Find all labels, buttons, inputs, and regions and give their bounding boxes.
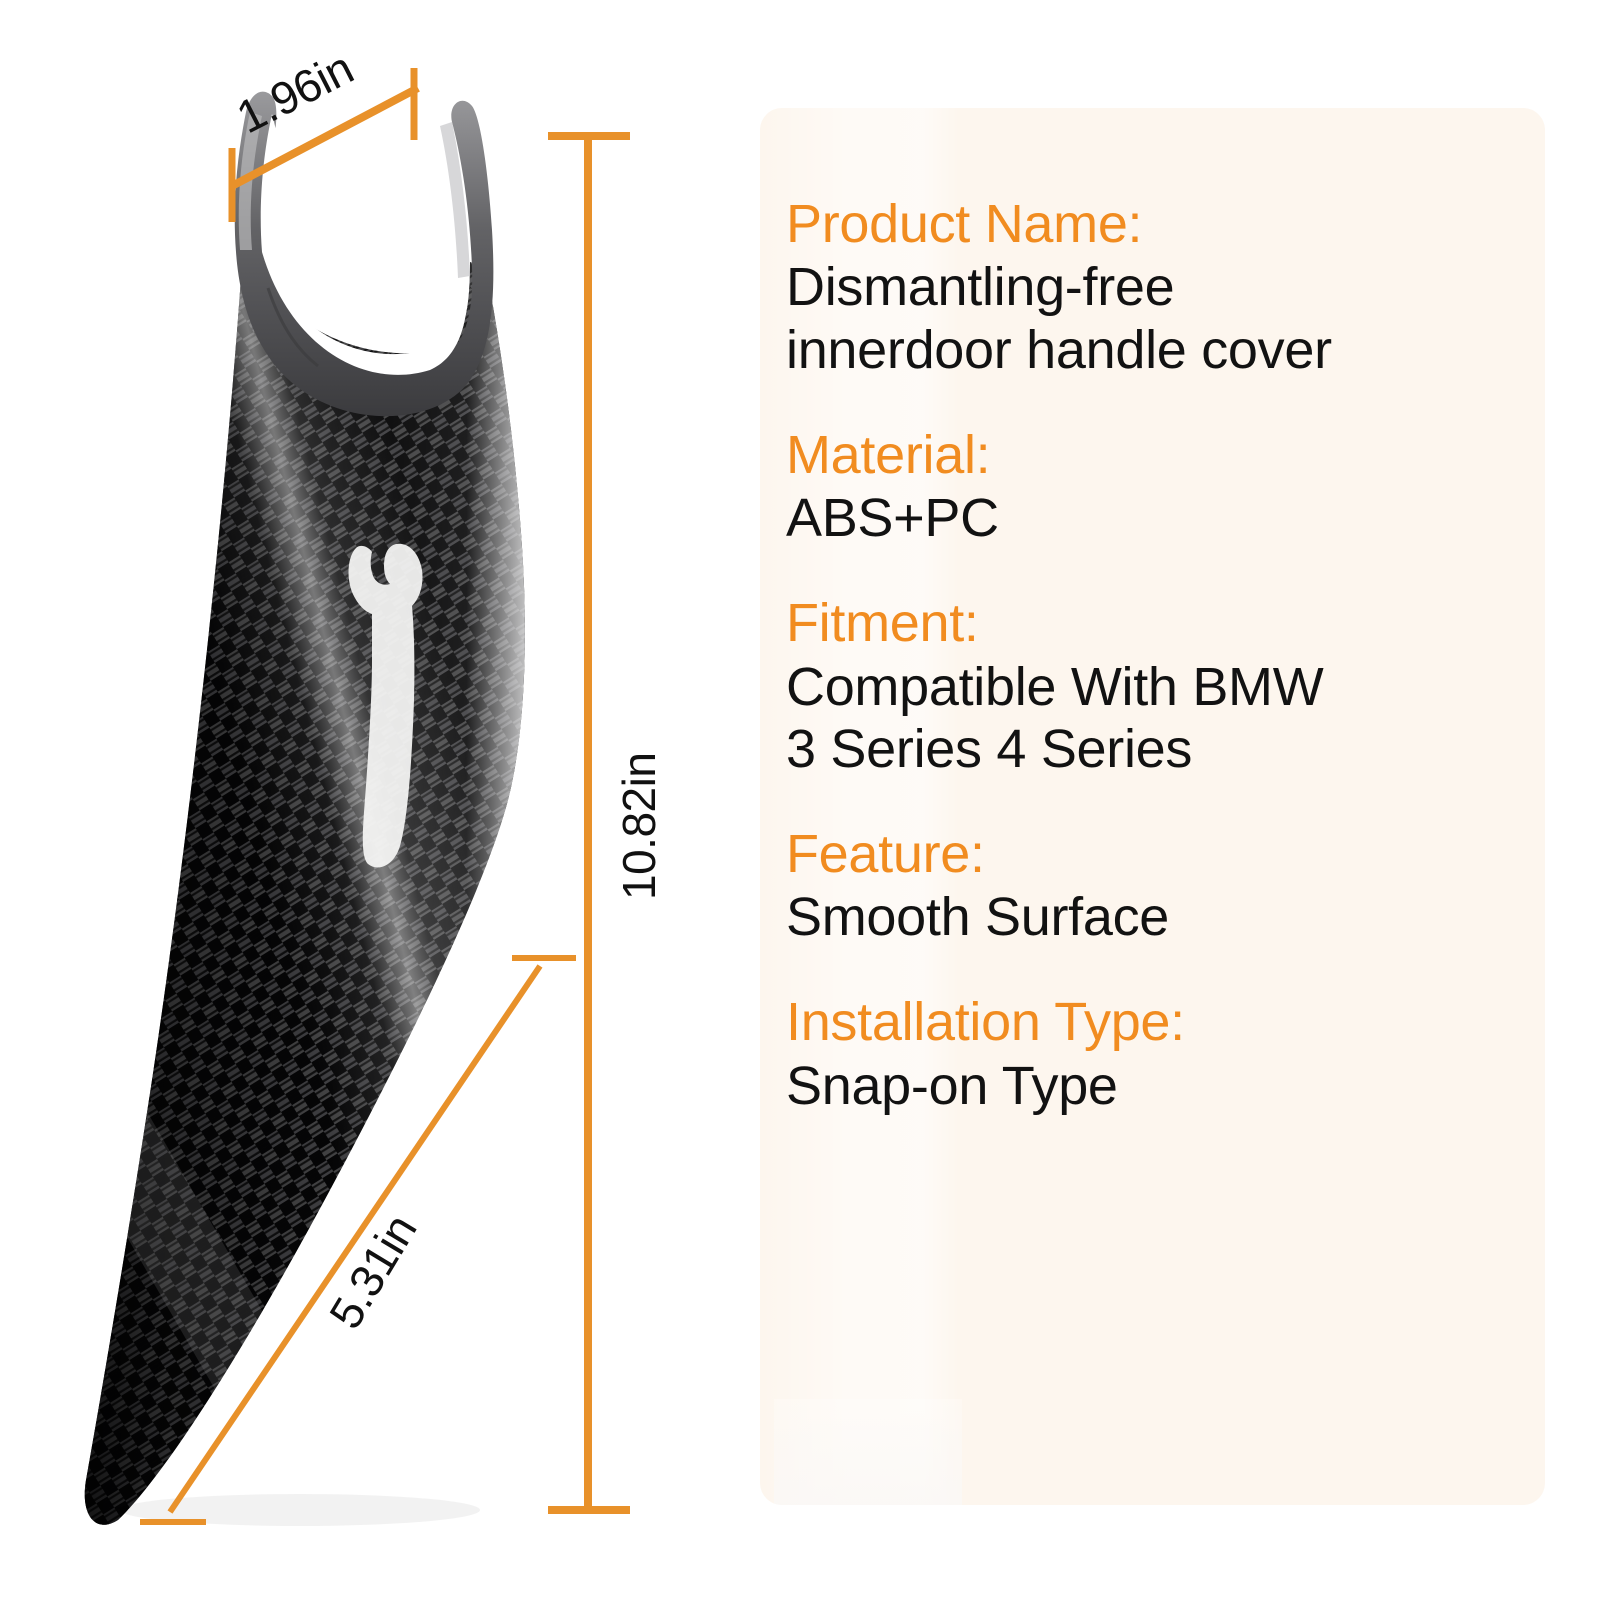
infographic-canvas: 1.96in 10.82in 5.31in Product Name: Dism…	[0, 0, 1600, 1600]
spec-key-product-name: Product Name:	[786, 194, 1519, 254]
dimension-label-height: 10.82in	[612, 753, 666, 900]
spec-item-installation-type: Installation Type: Snap-on Type	[786, 992, 1519, 1117]
spec-key-installation-type: Installation Type:	[786, 992, 1519, 1052]
spec-value-product-name-line2: innerdoor handle cover	[786, 319, 1519, 381]
spec-value-product-name-line1: Dismantling-free	[786, 256, 1519, 318]
spec-key-feature: Feature:	[786, 824, 1519, 884]
spec-value-fitment-line2: 3 Series 4 Series	[786, 718, 1519, 780]
panel-sheen-bottom-overlay	[774, 1399, 962, 1505]
spec-value-material: ABS+PC	[786, 487, 1519, 549]
spec-key-fitment: Fitment:	[786, 593, 1519, 653]
product-image-area: 1.96in 10.82in 5.31in	[0, 0, 700, 1600]
spec-item-product-name: Product Name: Dismantling-free innerdoor…	[786, 194, 1519, 381]
spec-key-material: Material:	[786, 425, 1519, 485]
spec-value-feature: Smooth Surface	[786, 886, 1519, 948]
product-body	[0, 0, 700, 1600]
spec-value-fitment-line1: Compatible With BMW	[786, 656, 1519, 718]
product-illustration	[0, 0, 700, 1600]
spec-item-fitment: Fitment: Compatible With BMW 3 Series 4 …	[786, 593, 1519, 780]
spec-value-installation-type: Snap-on Type	[786, 1055, 1519, 1117]
spec-item-material: Material: ABS+PC	[786, 425, 1519, 550]
spec-item-feature: Feature: Smooth Surface	[786, 824, 1519, 949]
specification-panel: Product Name: Dismantling-free innerdoor…	[760, 108, 1545, 1505]
